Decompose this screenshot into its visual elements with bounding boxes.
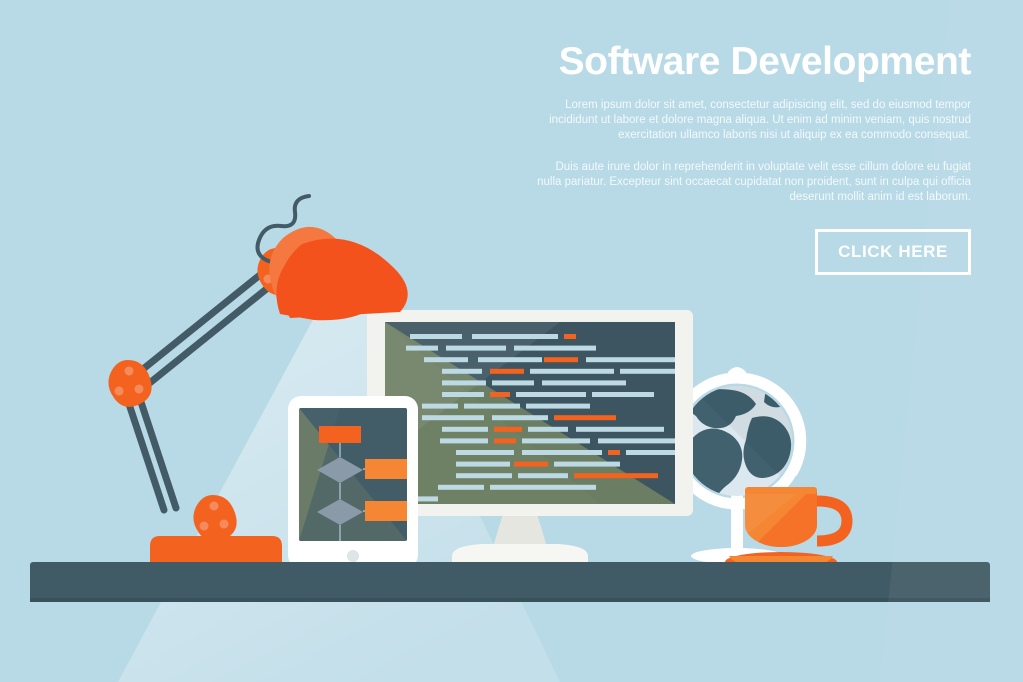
code-line-segment <box>494 438 516 443</box>
code-line-segment <box>490 369 524 374</box>
code-line-segment <box>494 427 522 432</box>
flowchart-node-process-b <box>365 501 407 521</box>
code-line-segment <box>576 427 664 432</box>
code-line-segment <box>490 392 510 397</box>
code-line-segment <box>526 404 590 409</box>
code-line-segment <box>440 438 488 443</box>
code-line-segment <box>516 392 586 397</box>
code-line-segment <box>522 450 602 455</box>
code-line-segment <box>586 357 686 362</box>
code-line-segment <box>554 462 620 467</box>
code-line-segment <box>464 404 520 409</box>
code-line-segment <box>422 404 458 409</box>
code-line-segment <box>574 473 658 478</box>
code-line-segment <box>514 462 548 467</box>
code-line-segment <box>518 473 568 478</box>
hero-paragraph-1: Lorem ipsum dolor sit amet, consectetur … <box>531 98 971 144</box>
code-line-segment <box>528 427 568 432</box>
code-line-segment <box>442 427 488 432</box>
code-line-segment <box>442 380 486 385</box>
code-line-segment <box>406 346 438 351</box>
illustration-canvas: Software Development Lorem ipsum dolor s… <box>0 0 1023 682</box>
code-line-segment <box>456 462 510 467</box>
code-line-segment <box>542 380 626 385</box>
code-line-segment <box>554 415 616 420</box>
hero-text-panel: Software Development Lorem ipsum dolor s… <box>531 40 971 275</box>
code-line-segment <box>456 450 514 455</box>
desk-surface[interactable] <box>30 562 990 602</box>
code-line-segment <box>446 346 506 351</box>
code-line-segment <box>490 485 596 490</box>
code-line-segment <box>478 357 542 362</box>
click-here-button[interactable]: CLICK HERE <box>815 229 971 275</box>
code-line-segment <box>442 392 484 397</box>
code-line-segment <box>592 392 654 397</box>
code-line-segment <box>564 334 576 339</box>
flowchart-node-start <box>319 426 361 443</box>
code-line-segment <box>456 473 512 478</box>
code-line-segment <box>492 380 534 385</box>
code-line-segment <box>424 357 468 362</box>
code-line-segment <box>530 369 614 374</box>
code-line-segment <box>438 485 484 490</box>
code-line-segment <box>514 346 596 351</box>
code-line-segment <box>472 334 558 339</box>
code-line-segment <box>544 357 578 362</box>
code-line-segment <box>492 415 548 420</box>
code-line-segment <box>522 438 590 443</box>
tablet-home-button[interactable] <box>347 550 359 562</box>
code-line-segment <box>442 369 482 374</box>
flowchart-node-process-a <box>365 459 407 479</box>
code-line-segment <box>422 415 484 420</box>
hero-paragraph-2: Duis aute irure dolor in reprehenderit i… <box>531 160 971 206</box>
page-title: Software Development <box>531 40 971 84</box>
code-line-segment <box>608 450 620 455</box>
code-line-segment <box>410 334 462 339</box>
desk <box>30 562 990 602</box>
